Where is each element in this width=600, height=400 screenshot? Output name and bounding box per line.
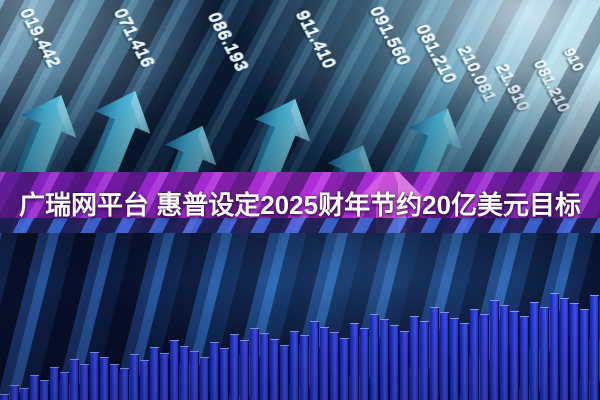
headline-text: 广瑞网平台 惠普设定2025财年节约20亿美元目标 bbox=[0, 172, 600, 234]
bar-chart-scene bbox=[0, 233, 600, 400]
headline-banner: 广瑞网平台 惠普设定2025财年节约20亿美元目标 bbox=[0, 172, 600, 234]
news-thumbnail-image: 019.442071.416086.193911.410091.560081.2… bbox=[0, 0, 600, 400]
rising-arrows-scene: 019.442071.416086.193911.410091.560081.2… bbox=[0, 0, 600, 178]
bottom-vignette-overlay bbox=[0, 233, 600, 400]
scene-shading-overlay bbox=[0, 0, 600, 178]
